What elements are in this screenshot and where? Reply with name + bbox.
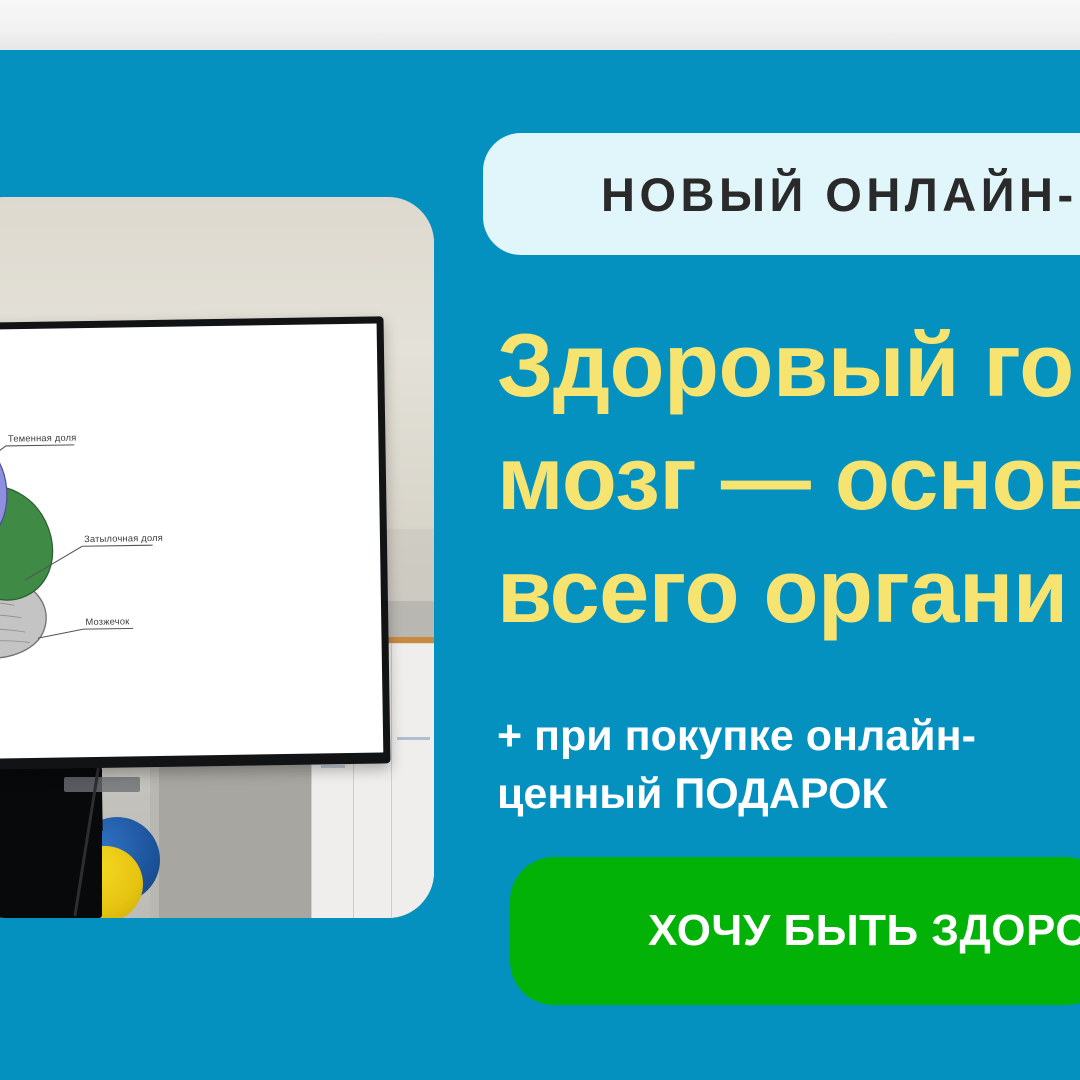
headline: Здоровый го мозг — основ всего органи [497, 310, 1080, 649]
headline-line-1: Здоровый го [497, 310, 1080, 423]
cta-button[interactable] [510, 857, 1080, 1005]
occipital-lobe [0, 484, 53, 601]
course-badge-label: НОВЫЙ ОНЛАЙН- [483, 133, 1080, 255]
subtext-line-1: + при покупке онлайн- [497, 707, 1080, 765]
brain-diagram: Теменная доля Затылочная доля Мозжечок [0, 368, 239, 743]
brain-label-cerebellum: Мозжечок [85, 616, 130, 627]
binder-label [321, 765, 345, 768]
binder [391, 643, 434, 918]
offer-subtext: + при покупке онлайн- ценный ПОДАРОК [497, 707, 1080, 823]
headline-line-3: всего органи [497, 536, 1080, 649]
monitor-base-highlight [64, 777, 140, 791]
photo-panel: Теменная доля Затылочная доля Мозжечок [0, 197, 434, 918]
brain-label-occipital: Затылочная доля [84, 532, 163, 543]
monitor-frame: Теменная доля Затылочная доля Мозжечок [0, 316, 390, 770]
top-white-strip [0, 0, 1080, 50]
monitor-screen: Теменная доля Затылочная доля Мозжечок [0, 323, 383, 759]
binder-label [397, 737, 429, 740]
brain-label-parietal: Теменная доля [8, 432, 77, 443]
promo-banner: Теменная доля Затылочная доля Мозжечок Н… [0, 0, 1080, 1080]
subtext-line-2: ценный ПОДАРОК [497, 765, 1080, 823]
headline-line-2: мозг — основ [497, 423, 1080, 536]
